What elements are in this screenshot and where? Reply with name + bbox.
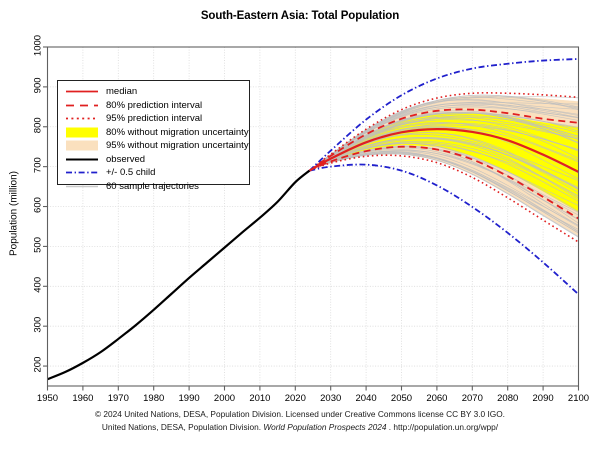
legend-item-80-prediction-interval: 80% prediction interval bbox=[64, 99, 244, 113]
legend-item-half-child: +/- 0.5 child bbox=[64, 166, 244, 180]
plot-canvas: 2003004005006007008009001000195019601970… bbox=[0, 0, 600, 449]
figure-caption: © 2024 United Nations, DESA, Population … bbox=[0, 408, 600, 434]
caption-line-1: © 2024 United Nations, DESA, Population … bbox=[0, 408, 600, 421]
svg-text:600: 600 bbox=[33, 197, 44, 213]
solid-red-line-icon bbox=[64, 86, 100, 97]
svg-text:1970: 1970 bbox=[108, 393, 129, 404]
legend-label: 80% without migration uncertainty bbox=[106, 127, 249, 138]
legend-item-sample-trajectories: 60 sample trajectories bbox=[64, 180, 244, 194]
svg-text:1990: 1990 bbox=[179, 393, 200, 404]
caption-line2-pre: United Nations, DESA, Population Divisio… bbox=[102, 422, 263, 432]
dashdot-blue-line-icon bbox=[64, 167, 100, 178]
legend: median 80% prediction interval 95% predi… bbox=[57, 80, 250, 185]
dashed-red-line-icon bbox=[64, 100, 100, 111]
svg-text:2100: 2100 bbox=[568, 393, 589, 404]
svg-text:700: 700 bbox=[33, 157, 44, 173]
svg-text:900: 900 bbox=[33, 77, 44, 93]
legend-label: 60 sample trajectories bbox=[106, 181, 199, 192]
svg-text:2030: 2030 bbox=[320, 393, 341, 404]
caption-line2-post: . http://population.un.org/wpp/ bbox=[386, 422, 498, 432]
svg-text:2050: 2050 bbox=[391, 393, 412, 404]
legend-item-95-without-migration: 95% without migration uncertainty bbox=[64, 139, 244, 153]
svg-text:2040: 2040 bbox=[356, 393, 377, 404]
dotted-red-line-icon bbox=[64, 113, 100, 124]
legend-label: 95% prediction interval bbox=[106, 113, 202, 124]
solid-black-line-icon bbox=[64, 154, 100, 165]
svg-text:2080: 2080 bbox=[497, 393, 518, 404]
caption-line-2: United Nations, DESA, Population Divisio… bbox=[0, 421, 600, 434]
svg-text:1960: 1960 bbox=[72, 393, 93, 404]
legend-label: 80% prediction interval bbox=[106, 100, 202, 111]
svg-text:400: 400 bbox=[33, 277, 44, 293]
legend-item-median: median bbox=[64, 85, 244, 99]
svg-text:2010: 2010 bbox=[249, 393, 270, 404]
legend-label: 95% without migration uncertainty bbox=[106, 140, 249, 151]
legend-label: +/- 0.5 child bbox=[106, 167, 155, 178]
caption-source-italic: World Population Prospects 2024 bbox=[263, 422, 386, 432]
svg-text:200: 200 bbox=[33, 357, 44, 373]
legend-item-observed: observed bbox=[64, 153, 244, 167]
yellow-band-swatch-icon bbox=[64, 127, 100, 138]
legend-item-95-prediction-interval: 95% prediction interval bbox=[64, 112, 244, 126]
legend-item-80-without-migration: 80% without migration uncertainty bbox=[64, 126, 244, 140]
svg-text:2000: 2000 bbox=[214, 393, 235, 404]
svg-text:500: 500 bbox=[33, 237, 44, 253]
svg-text:300: 300 bbox=[33, 317, 44, 333]
chart-figure: South-Eastern Asia: Total Population Pop… bbox=[0, 0, 600, 449]
svg-text:2020: 2020 bbox=[285, 393, 306, 404]
svg-text:2090: 2090 bbox=[533, 393, 554, 404]
legend-label: median bbox=[106, 86, 137, 97]
svg-text:1000: 1000 bbox=[33, 35, 44, 56]
solid-gray-line-icon bbox=[64, 181, 100, 192]
svg-text:2060: 2060 bbox=[426, 393, 447, 404]
svg-text:1980: 1980 bbox=[143, 393, 164, 404]
peach-band-swatch-icon bbox=[64, 140, 100, 151]
svg-text:1950: 1950 bbox=[37, 393, 58, 404]
svg-text:800: 800 bbox=[33, 117, 44, 133]
legend-label: observed bbox=[106, 154, 145, 165]
svg-text:2070: 2070 bbox=[462, 393, 483, 404]
